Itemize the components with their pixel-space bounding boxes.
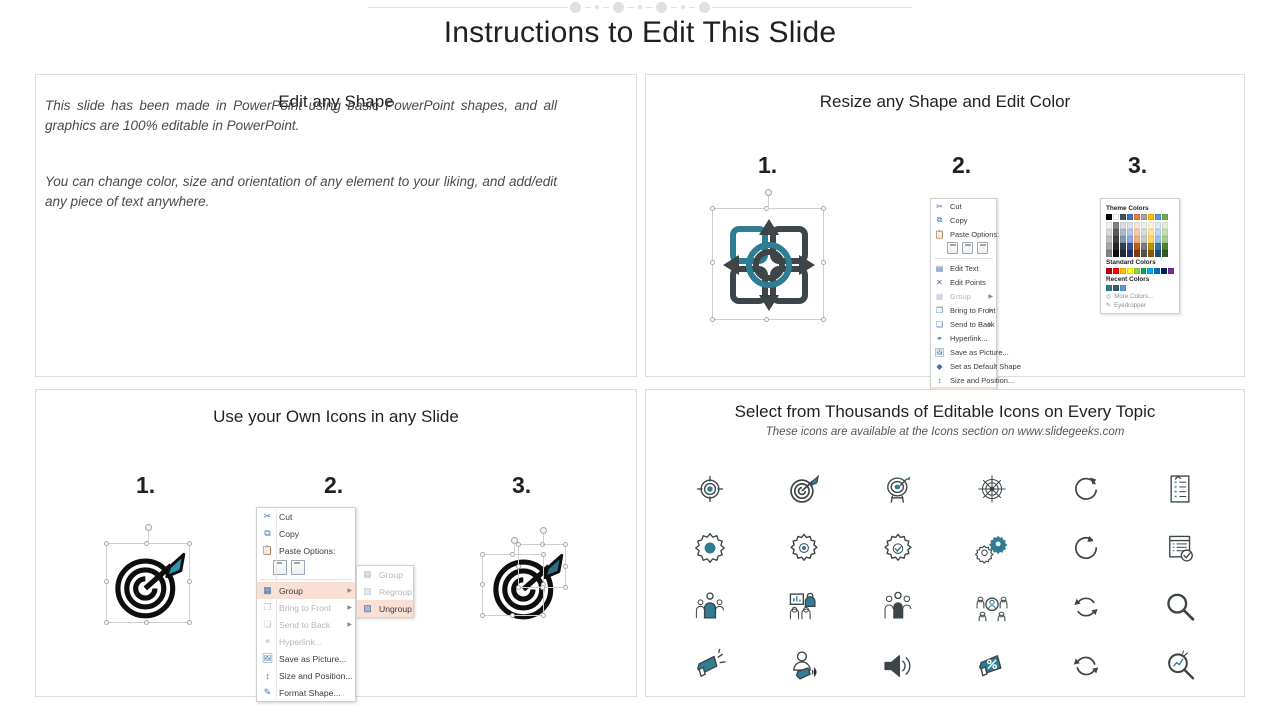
submenu-arrow-icon: ▶ [988, 293, 993, 300]
panel-title-own-icons: Use your Own Icons in any Slide [36, 390, 636, 428]
menu-separator [260, 579, 352, 580]
sync-arrows-icon[interactable] [1069, 590, 1103, 624]
icons-step-number-3: 3. [512, 472, 531, 499]
color-swatch[interactable] [1148, 222, 1154, 229]
menu-item-copy[interactable]: ⧉Copy [257, 525, 355, 542]
resize-handle-nw[interactable] [104, 541, 109, 546]
group-context-menu[interactable]: ✂Cut⧉Copy📋Paste Options:▦Group▶❐Bring to… [256, 507, 356, 702]
color-picker-panel[interactable]: Theme ColorsStandard ColorsRecent Colors… [1100, 198, 1180, 314]
refresh-arrow-icon[interactable] [1069, 472, 1103, 506]
resize-handle-sw[interactable] [104, 620, 109, 625]
resize-handle-e[interactable] [563, 564, 568, 569]
menu-item-paste-options[interactable]: 📋Paste Options: [257, 542, 355, 559]
gear-check-icon[interactable] [881, 531, 915, 565]
menu-item-label: Bring to Front [279, 603, 331, 613]
color-swatch[interactable] [1120, 268, 1126, 274]
sub-selection-frame-arrow[interactable] [518, 544, 566, 588]
color-swatch[interactable] [1106, 250, 1112, 257]
icon-cell[interactable] [1069, 590, 1103, 629]
rotation-handle[interactable] [145, 524, 152, 531]
checklist-document-icon[interactable] [1163, 472, 1197, 506]
edit-text-icon: ▤ [933, 263, 946, 274]
resize-handle-w[interactable] [480, 582, 485, 587]
color-swatch[interactable] [1162, 229, 1168, 236]
color-swatch[interactable] [1154, 268, 1160, 274]
color-swatch[interactable] [1120, 229, 1126, 236]
icon-cell[interactable] [787, 649, 821, 688]
color-swatch[interactable] [1162, 222, 1168, 229]
menu-item-regroup[interactable]: ▧Regroup [357, 583, 413, 600]
color-swatch[interactable] [1106, 222, 1112, 229]
panel-subtitle-editable-icons: These icons are available at the Icons s… [646, 426, 1244, 438]
menu-item-save-as-picture[interactable]: 🖼Save as Picture... [931, 345, 996, 359]
panel-title-editable-icons: Select from Thousands of Editable Icons … [646, 390, 1244, 423]
format-shape-icon: ✎ [260, 687, 275, 698]
color-swatch[interactable] [1113, 243, 1119, 250]
label: Eyedropper [1114, 302, 1146, 309]
ornament-dash [671, 7, 677, 8]
paste-icon: 📋 [260, 545, 275, 556]
theme-colors-row[interactable] [1106, 214, 1174, 220]
more-colors-icon: ◎ [1106, 293, 1111, 300]
resize-handle-nw[interactable] [480, 552, 485, 557]
icon-cell[interactable] [975, 472, 1009, 511]
icon-cell[interactable] [787, 472, 821, 511]
submenu-arrow-icon: ▶ [347, 587, 352, 594]
color-swatch[interactable] [1162, 214, 1168, 220]
menu-icon-gutter [276, 510, 277, 699]
menu-item-format-shape[interactable]: ✎Format Shape... [257, 684, 355, 701]
megaphone-icon[interactable] [693, 649, 727, 683]
color-swatch[interactable] [1113, 222, 1119, 229]
rotation-stem [543, 534, 544, 545]
theme-colors-heading: Theme Colors [1106, 205, 1174, 212]
paste-picture-icon[interactable] [291, 560, 305, 575]
icon-cell[interactable] [1069, 472, 1103, 511]
menu-item-label: Size and Position... [279, 671, 353, 681]
resize-step-number-2: 2. [952, 152, 971, 179]
edit-points-icon: ✕ [933, 277, 946, 288]
color-swatch[interactable] [1168, 268, 1174, 274]
standard-colors-heading: Standard Colors [1106, 259, 1174, 266]
menu-item-label: Copy [279, 529, 299, 539]
icon-cell[interactable] [881, 590, 915, 629]
ornament-dot-small [681, 5, 685, 9]
target-stand-icon[interactable] [881, 472, 915, 506]
icon-cell[interactable] [1163, 531, 1197, 570]
theme-color-column[interactable] [1127, 222, 1133, 257]
menu-item-send-to-back[interactable]: ❏Send to Back▶ [257, 616, 355, 633]
icon-cell[interactable] [787, 531, 821, 570]
color-swatch[interactable] [1120, 236, 1126, 243]
resize-step-number-1: 1. [758, 152, 777, 179]
menu-item-group[interactable]: ▦Group▶ [931, 289, 996, 303]
crosshair-scope-icon[interactable] [975, 472, 1009, 506]
color-swatch[interactable] [1155, 250, 1161, 257]
color-swatch[interactable] [1162, 243, 1168, 250]
menu-item-label: Set as Default Shape [950, 362, 1021, 371]
color-swatch[interactable] [1134, 229, 1140, 236]
menu-item-label: Send to Back [279, 620, 330, 630]
theme-color-column[interactable] [1141, 222, 1147, 257]
bring-front-icon: ❐ [933, 305, 946, 316]
color-swatch[interactable] [1155, 222, 1161, 229]
standard-colors-row[interactable] [1106, 268, 1174, 274]
theme-color-column[interactable] [1113, 222, 1119, 257]
resize-handle-nw[interactable] [516, 542, 521, 547]
icon-cell[interactable] [1069, 649, 1103, 688]
color-swatch[interactable] [1113, 285, 1119, 291]
target-arrow-shape [111, 547, 187, 621]
double-gear-icon[interactable] [975, 531, 1009, 565]
more-colors-item[interactable]: ◎More Colors... [1106, 293, 1174, 300]
color-swatch[interactable] [1148, 250, 1154, 257]
icon-cell[interactable] [881, 649, 915, 688]
resize-handle-sw[interactable] [516, 585, 521, 590]
hyperlink-icon: ⚭ [260, 636, 275, 647]
icon-cell[interactable] [975, 649, 1009, 688]
group-icon: ▦ [360, 569, 375, 580]
rotation-handle[interactable] [540, 527, 547, 534]
menu-item-paste-options[interactable]: 📋Paste Options: [931, 227, 996, 241]
color-swatch[interactable] [1134, 214, 1140, 220]
resize-handle-s[interactable] [764, 317, 769, 322]
resize-handle-w[interactable] [710, 260, 715, 265]
color-swatch[interactable] [1106, 214, 1112, 220]
submenu-arrow-icon: ▶ [988, 307, 993, 314]
group-icon: ▦ [933, 291, 946, 302]
resize-handle-s[interactable] [510, 613, 515, 618]
ornament-line-left [368, 7, 568, 8]
icon-cell[interactable] [693, 531, 727, 570]
color-swatch[interactable] [1134, 222, 1140, 229]
edit-shape-paragraph-2: You can change color, size and orientati… [45, 172, 557, 211]
person-announce-icon[interactable] [787, 649, 821, 683]
theme-color-column[interactable] [1162, 222, 1168, 257]
menu-item-label: Hyperlink... [950, 334, 988, 343]
resize-handle-nw[interactable] [710, 206, 715, 211]
submenu-arrow-icon: ▶ [347, 604, 352, 611]
menu-item-size-and-position[interactable]: ↕Size and Position... [931, 373, 996, 387]
edit-shape-paragraph-1: This slide has been made in PowerPoint u… [45, 96, 557, 135]
color-swatch[interactable] [1148, 214, 1154, 220]
theme-color-column[interactable] [1134, 222, 1140, 257]
rotation-stem [768, 196, 769, 209]
resize-handle-ne[interactable] [821, 206, 826, 211]
resize-handle-e[interactable] [821, 260, 826, 265]
icon-cell[interactable] [881, 531, 915, 570]
shape-selection-frame[interactable] [712, 208, 824, 320]
color-swatch[interactable] [1141, 229, 1147, 236]
color-swatch[interactable] [1162, 236, 1168, 243]
color-swatch[interactable] [1147, 268, 1153, 274]
team-leader-icon[interactable] [693, 590, 727, 624]
quadrant-target-shape [719, 215, 819, 315]
submenu-arrow-icon: ▶ [988, 321, 993, 328]
menu-item-label: Paste Options: [279, 546, 335, 556]
icon-cell[interactable] [1163, 590, 1197, 629]
ungroup-icon: ▨ [360, 603, 375, 614]
paste-option-icons[interactable] [931, 241, 996, 256]
resize-handle-ne[interactable] [187, 541, 192, 546]
color-swatch[interactable] [1120, 250, 1126, 257]
default-shape-icon: ◆ [933, 361, 946, 372]
resize-handle-se[interactable] [563, 585, 568, 590]
menu-item-label: Edit Points [950, 278, 986, 287]
magnifier-icon[interactable] [1163, 590, 1197, 624]
icon-cell[interactable] [1163, 472, 1197, 511]
recent-colors-heading: Recent Colors [1106, 276, 1174, 283]
resize-handle-se[interactable] [187, 620, 192, 625]
ornament-dot [570, 2, 581, 13]
color-swatch[interactable] [1106, 236, 1112, 243]
color-swatch[interactable] [1120, 214, 1126, 220]
menu-item-label: Group [950, 292, 971, 301]
menu-item-label: Cut [279, 512, 292, 522]
icon-cell[interactable] [1069, 531, 1103, 570]
icon-cell[interactable] [1163, 649, 1197, 688]
ornament-dash [603, 7, 609, 8]
paste-text-icon[interactable] [977, 242, 988, 254]
rotation-handle[interactable] [765, 189, 772, 196]
color-swatch[interactable] [1162, 250, 1168, 257]
save-picture-icon: 🖼 [933, 347, 946, 358]
color-swatch[interactable] [1141, 236, 1147, 243]
menu-item-set-as-default-shape[interactable]: ◆Set as Default Shape [931, 359, 996, 373]
presentation-team-icon[interactable] [787, 590, 821, 624]
ornament-dot [656, 2, 667, 13]
theme-color-column[interactable] [1106, 222, 1112, 257]
icon-cell[interactable] [975, 531, 1009, 570]
bring-front-icon: ❐ [260, 602, 275, 613]
resize-handle-w[interactable] [104, 579, 109, 584]
color-swatch[interactable] [1106, 285, 1112, 291]
menu-item-label: Group [379, 570, 403, 580]
icon-cell[interactable] [693, 590, 727, 629]
color-swatch[interactable] [1127, 250, 1133, 257]
ornament-dot [699, 2, 710, 13]
magnifier-analytics-icon[interactable] [1163, 649, 1197, 683]
ornament-dot-small [638, 5, 642, 9]
resize-handle-ne[interactable] [563, 542, 568, 547]
color-swatch[interactable] [1141, 222, 1147, 229]
menu-item-label: Size and Position... [950, 376, 1014, 385]
scissors-icon: ✂ [260, 511, 275, 522]
menu-item-label: Paste Options: [950, 230, 999, 239]
color-swatch[interactable] [1106, 243, 1112, 250]
ornament-dash [585, 7, 591, 8]
color-swatch[interactable] [1141, 268, 1147, 274]
panel-title-resize-shape: Resize any Shape and Edit Color [646, 75, 1244, 113]
target-ungrouped-selection[interactable] [480, 540, 574, 630]
gear-filled-icon[interactable] [693, 531, 727, 565]
rotation-stem [148, 531, 149, 544]
menu-item-ungroup[interactable]: ▨Ungroup [357, 600, 413, 617]
paste-icon: 📋 [933, 229, 946, 240]
icon-cell[interactable] [693, 649, 727, 688]
menu-item-bring-to-front[interactable]: ❐Bring to Front▶ [257, 599, 355, 616]
color-swatch[interactable] [1127, 214, 1133, 220]
refresh-cycle-icon[interactable] [1069, 649, 1103, 683]
icons-step-number-2: 2. [324, 472, 343, 499]
color-swatch[interactable] [1161, 268, 1167, 274]
group-icon: ▦ [260, 585, 275, 596]
menu-item-cut[interactable]: ✂Cut [931, 199, 996, 213]
color-swatch[interactable] [1113, 229, 1119, 236]
color-swatch[interactable] [1148, 229, 1154, 236]
ornament-dot [613, 2, 624, 13]
theme-color-variants[interactable] [1106, 222, 1174, 257]
color-swatch[interactable] [1134, 243, 1140, 250]
ornament-line-right [712, 7, 912, 8]
resize-handle-se[interactable] [821, 317, 826, 322]
theme-color-column[interactable] [1148, 222, 1154, 257]
rotation-stem [514, 544, 515, 555]
theme-color-column[interactable] [1120, 222, 1126, 257]
page-title: Instructions to Edit This Slide [0, 16, 1280, 50]
save-picture-icon: 🖼 [260, 653, 275, 664]
menu-item-group[interactable]: ▦Group [357, 566, 413, 583]
recent-colors-row[interactable] [1106, 285, 1174, 291]
color-swatch[interactable] [1120, 222, 1126, 229]
ornament-dash [646, 7, 652, 8]
ornament-dot-small [595, 5, 599, 9]
menu-item-size-and-position[interactable]: ↕Size and Position... [257, 667, 355, 684]
menu-item-label: Copy [950, 216, 968, 225]
menu-item-edit-points[interactable]: ✕Edit Points [931, 275, 996, 289]
eyedropper-item[interactable]: ✎Eyedropper [1106, 302, 1174, 309]
menu-item-label: Ungroup [379, 604, 412, 614]
menu-item-label: Edit Text [950, 264, 979, 273]
color-swatch[interactable] [1113, 236, 1119, 243]
menu-item-label: Format Shape... [279, 688, 341, 698]
menu-item-cut[interactable]: ✂Cut [257, 508, 355, 525]
submenu-arrow-icon: ▶ [347, 621, 352, 628]
color-swatch[interactable] [1134, 236, 1140, 243]
icon-cell[interactable] [787, 590, 821, 629]
color-swatch[interactable] [1141, 214, 1147, 220]
target-grouped-selection[interactable] [106, 543, 190, 623]
color-swatch[interactable] [1155, 214, 1161, 220]
icon-cell[interactable] [693, 472, 727, 511]
send-back-icon: ❏ [260, 619, 275, 630]
top-ornament [0, 0, 1280, 14]
color-swatch[interactable] [1155, 236, 1161, 243]
team-meeting-icon[interactable] [975, 590, 1009, 624]
resize-handle-sw[interactable] [480, 613, 485, 618]
color-swatch[interactable] [1127, 229, 1133, 236]
shape-context-menu[interactable]: ✂Cut⧉Copy📋Paste Options:▤Edit Text✕Edit … [930, 198, 997, 402]
resize-handle-s[interactable] [540, 585, 545, 590]
color-swatch[interactable] [1106, 268, 1112, 274]
color-swatch[interactable] [1120, 285, 1126, 291]
menu-item-hyperlink[interactable]: ⚭Hyperlink... [931, 331, 996, 345]
eyedropper-icon: ✎ [1106, 302, 1111, 309]
color-swatch[interactable] [1141, 243, 1147, 250]
color-swatch[interactable] [1127, 236, 1133, 243]
size-position-icon: ↕ [933, 375, 946, 386]
icon-cell[interactable] [975, 590, 1009, 629]
refresh-circle-icon[interactable] [1069, 531, 1103, 565]
editable-icon-grid [663, 462, 1227, 698]
menu-item-send-to-back[interactable]: ❏Send to Back▶ [931, 317, 996, 331]
color-swatch[interactable] [1134, 268, 1140, 274]
copy-icon: ⧉ [933, 215, 946, 226]
menu-item-label: Group [279, 586, 303, 596]
menu-item-label: Hyperlink... [279, 637, 322, 647]
target-crosshair-icon[interactable] [693, 472, 727, 506]
paste-option-icons[interactable] [257, 559, 355, 577]
scissors-icon: ✂ [933, 201, 946, 212]
paste-keep-formatting-icon[interactable] [947, 242, 958, 254]
menu-separator [934, 258, 993, 259]
menu-item-label: Save as Picture... [950, 348, 1009, 357]
checklist-approved-icon[interactable] [1163, 531, 1197, 565]
menu-item-group[interactable]: ▦Group▶ [257, 582, 355, 599]
color-swatch[interactable] [1113, 250, 1119, 257]
send-back-icon: ❏ [933, 319, 946, 330]
color-swatch[interactable] [1134, 250, 1140, 257]
speaker-icon[interactable] [881, 649, 915, 683]
resize-handle-se[interactable] [541, 613, 546, 618]
icon-cell[interactable] [881, 472, 915, 511]
label: More Colors... [1114, 293, 1153, 300]
color-swatch[interactable] [1127, 243, 1133, 250]
color-swatch[interactable] [1155, 229, 1161, 236]
ornament-dash [628, 7, 634, 8]
resize-handle-w[interactable] [516, 564, 521, 569]
target-arrow-icon[interactable] [787, 472, 821, 506]
theme-color-column[interactable] [1155, 222, 1161, 257]
resize-handle-sw[interactable] [710, 317, 715, 322]
menu-item-save-as-picture[interactable]: 🖼Save as Picture... [257, 650, 355, 667]
regroup-icon: ▧ [360, 586, 375, 597]
color-swatch[interactable] [1127, 268, 1133, 274]
group-people-icon[interactable] [881, 590, 915, 624]
paste-picture-icon[interactable] [962, 242, 973, 254]
icons-step-number-1: 1. [136, 472, 155, 499]
color-swatch[interactable] [1113, 214, 1119, 220]
menu-item-label: Save as Picture... [279, 654, 346, 664]
megaphone-percent-icon[interactable] [975, 649, 1009, 683]
gear-outline-icon[interactable] [787, 531, 821, 565]
menu-item-copy[interactable]: ⧉Copy [931, 213, 996, 227]
ornament-dash [689, 7, 695, 8]
color-swatch[interactable] [1141, 250, 1147, 257]
resize-step-number-3: 3. [1128, 152, 1147, 179]
menu-item-hyperlink[interactable]: ⚭Hyperlink... [257, 633, 355, 650]
resize-handle-e[interactable] [187, 579, 192, 584]
menu-item-edit-text[interactable]: ▤Edit Text [931, 261, 996, 275]
size-position-icon: ↕ [260, 670, 275, 681]
menu-item-bring-to-front[interactable]: ❐Bring to Front▶ [931, 303, 996, 317]
color-swatch[interactable] [1106, 229, 1112, 236]
color-swatch[interactable] [1120, 243, 1126, 250]
menu-item-label: Regroup [379, 587, 412, 597]
copy-icon: ⧉ [260, 528, 275, 539]
menu-item-label: Cut [950, 202, 962, 211]
group-submenu[interactable]: ▦Group▧Regroup▨Ungroup [356, 565, 414, 618]
color-swatch[interactable] [1113, 268, 1119, 274]
color-swatch[interactable] [1148, 243, 1154, 250]
color-swatch[interactable] [1127, 222, 1133, 229]
hyperlink-icon: ⚭ [933, 333, 946, 344]
color-swatch[interactable] [1148, 236, 1154, 243]
color-swatch[interactable] [1155, 243, 1161, 250]
